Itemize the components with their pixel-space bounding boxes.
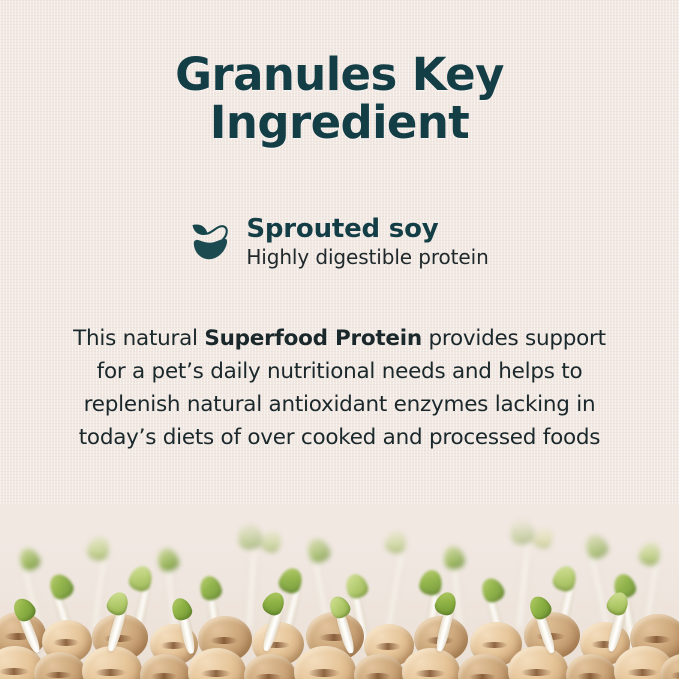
page-title: Granules Key Ingredient [0, 52, 679, 146]
title-line-2: Ingredient [0, 100, 679, 146]
ingredient-description: Highly digestible protein [246, 245, 488, 269]
body-copy: This natural Superfood Protein provides … [60, 322, 619, 454]
title-line-1: Granules Key [0, 52, 679, 98]
product-infographic-card: Granules Key Ingredient Sprouted soy Hig… [0, 0, 679, 679]
sprout-icon [190, 219, 232, 265]
ingredient-name: Sprouted soy [246, 215, 488, 244]
body-copy-highlight: Superfood Protein [204, 326, 422, 351]
ingredient-text-block: Sprouted soy Highly digestible protein [246, 215, 488, 269]
key-ingredient-block: Sprouted soy Highly digestible protein [0, 215, 679, 269]
body-copy-part1: This natural [73, 326, 204, 351]
sprouted-soybean-photo [0, 504, 679, 679]
